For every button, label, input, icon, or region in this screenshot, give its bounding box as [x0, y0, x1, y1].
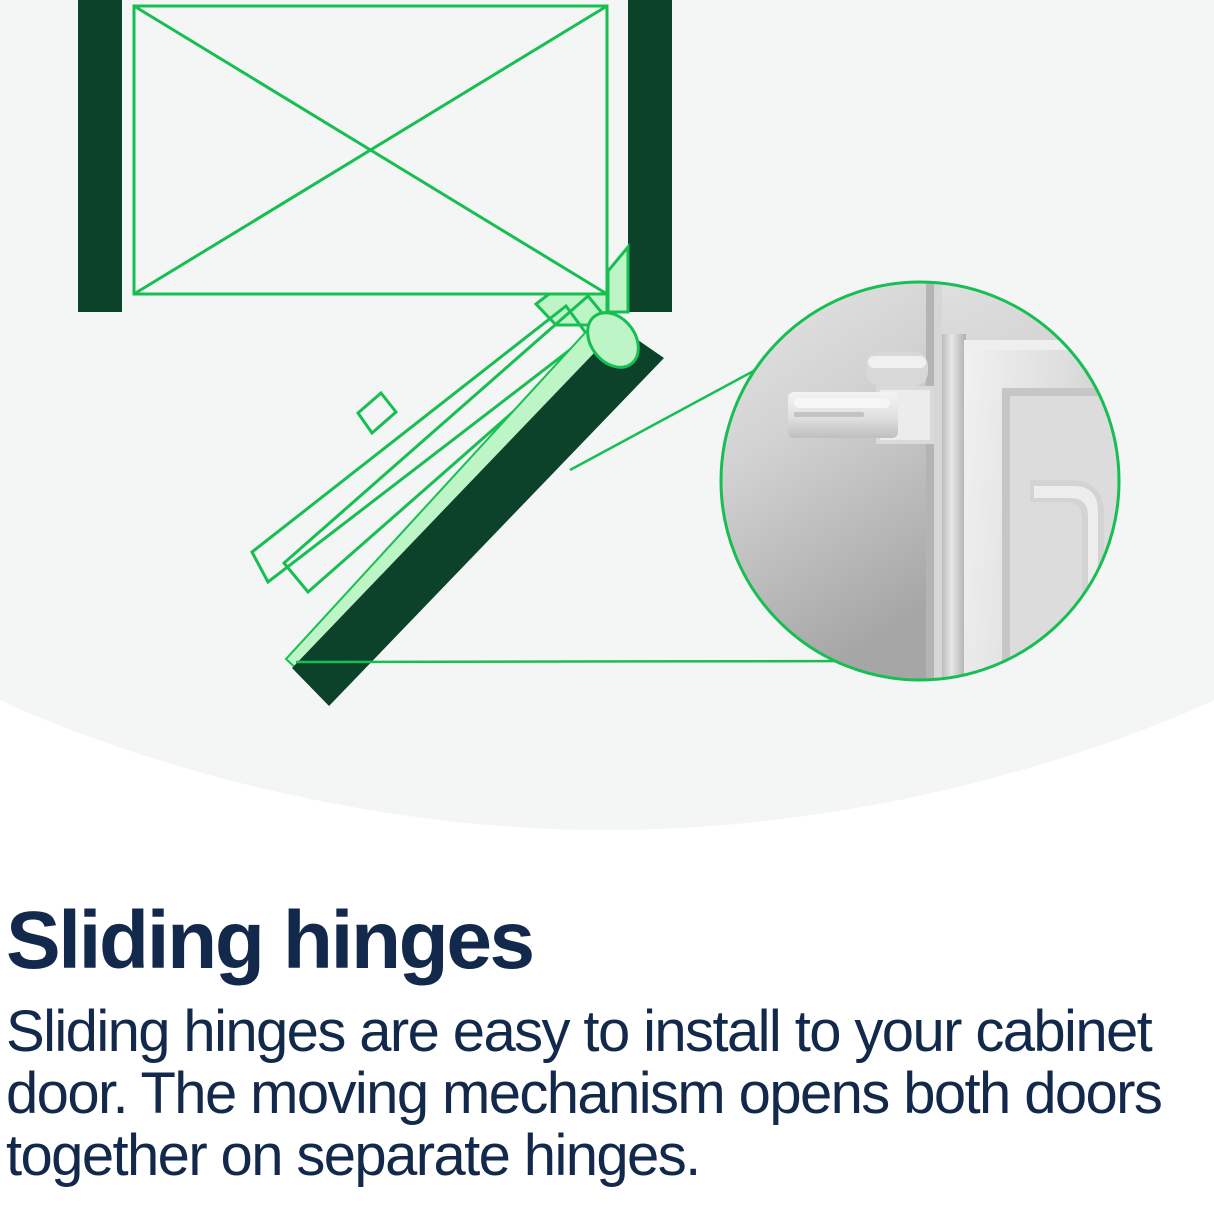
illustration-panel — [0, 0, 1214, 840]
page-title: Sliding hinges — [6, 895, 1208, 987]
right-cabinet-panel — [628, 0, 672, 312]
leader-line-lower — [296, 661, 880, 662]
sliding-hinge-diagram — [0, 0, 1214, 840]
text-block: Sliding hinges Sliding hinges are easy t… — [0, 895, 1214, 1187]
page-description: Sliding hinges are easy to install to yo… — [6, 1001, 1208, 1187]
left-cabinet-panel — [78, 0, 122, 312]
